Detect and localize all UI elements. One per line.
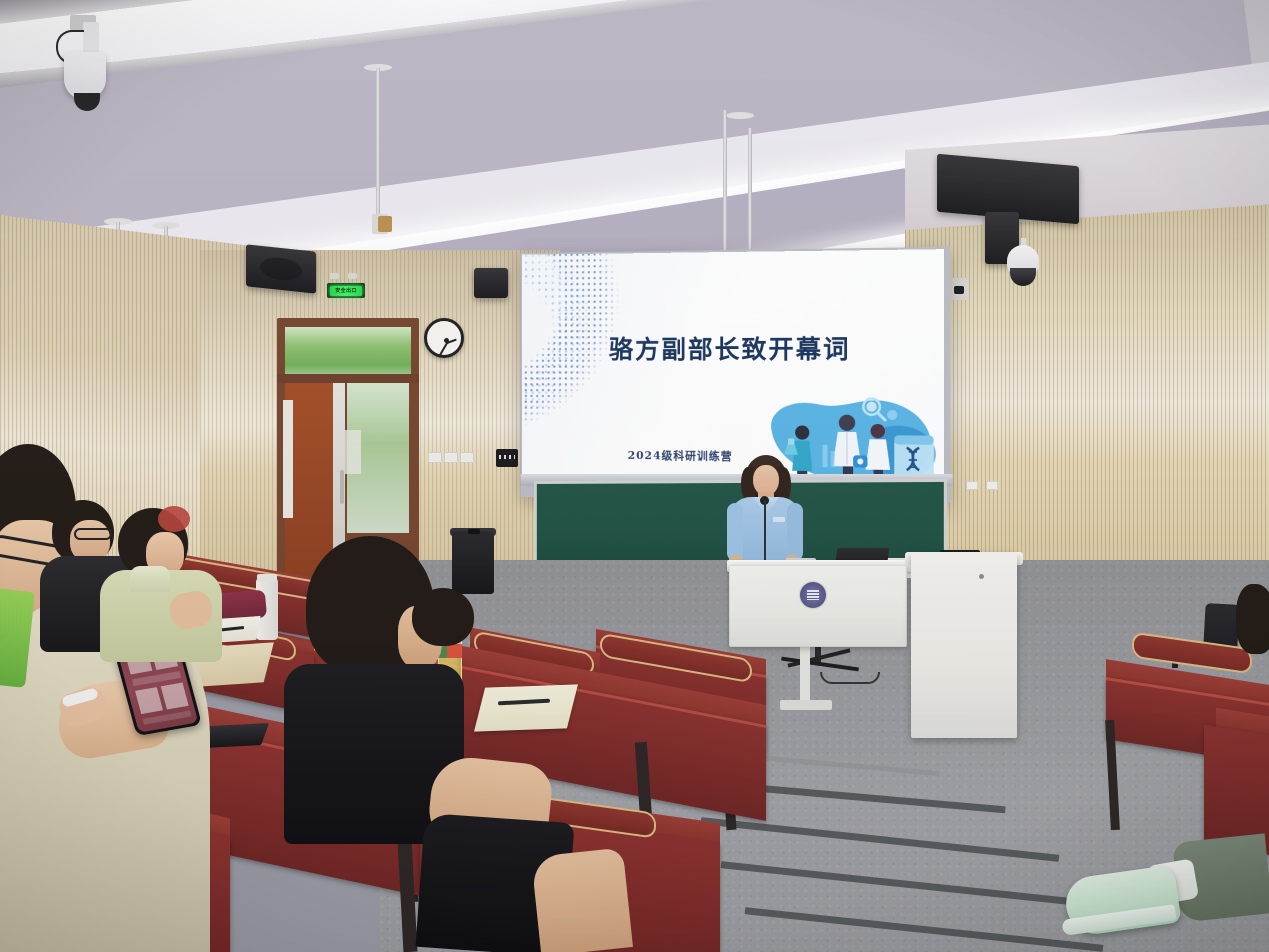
device-box-left — [378, 216, 392, 232]
wall-socket-right-2[interactable] — [986, 481, 998, 490]
wall-camera-right-lens — [954, 286, 964, 294]
wall-clock — [424, 318, 464, 358]
exit-sign: 安全出口 — [327, 283, 365, 298]
floor-cable — [820, 672, 880, 684]
rod-ceiling-plate-center — [726, 112, 754, 119]
photo-cell-4 — [161, 683, 189, 710]
wall-speaker-center — [474, 268, 508, 298]
student-right-edge-head — [1236, 584, 1269, 654]
university-seal-emblem — [800, 582, 826, 608]
white-water-bottle-cap — [257, 574, 277, 582]
speaker-cone-left — [260, 256, 302, 282]
slide-subtitle: 2024级科研训练营 — [628, 447, 733, 464]
floor-bin-slot — [468, 529, 480, 534]
presenter-shirt-logo — [773, 517, 785, 522]
exit-sign-text: 安全出口 — [330, 286, 362, 296]
rack-lock[interactable] — [979, 574, 984, 579]
photo-cell-3 — [135, 687, 163, 714]
lecture-hall-photo: 安全出口 2:35 骆方副部长致开幕词 2024级科研训练营 — [0, 0, 1269, 952]
light-switch-3[interactable] — [460, 452, 474, 463]
equipment-rack — [911, 552, 1017, 738]
wall-control-panel-leds — [499, 455, 515, 459]
presenter-arm-right — [787, 503, 803, 561]
podium-leg — [800, 645, 810, 703]
projection-slide: 骆方副部长致开幕词 2024级科研训练营 — [522, 249, 944, 481]
door-jamb-light — [283, 400, 293, 518]
door-mullion-horizontal — [277, 374, 419, 383]
hanging-rod-left — [376, 68, 380, 220]
presenter-arm-left — [727, 503, 743, 561]
presenter-face — [753, 465, 779, 496]
podium-foot — [780, 700, 832, 710]
photo-strip-footer — [143, 711, 192, 725]
slide-title: 骆方副部长致开幕词 — [522, 329, 944, 366]
emergency-lamp-left — [330, 273, 339, 279]
door-handle[interactable] — [340, 470, 344, 504]
floor-bin[interactable] — [452, 531, 494, 594]
emergency-lamp-right — [348, 273, 357, 279]
ceiling-speaker-left — [246, 244, 316, 293]
wall-socket-right-1[interactable] — [966, 481, 978, 490]
door-vent-panel — [345, 430, 361, 474]
cream-notebook[interactable] — [474, 684, 578, 731]
light-switch-2[interactable] — [444, 452, 458, 463]
light-switch-1[interactable] — [428, 452, 442, 463]
student-black-tee-glasses-icon — [74, 528, 112, 540]
hair-accessory-red — [158, 506, 190, 532]
door-transom-glass — [285, 327, 411, 381]
hanging-rod-center-a — [723, 110, 727, 260]
clock-center — [444, 338, 449, 343]
student-center-lower-leg — [531, 847, 633, 952]
student-right-small-head — [412, 588, 474, 646]
student-olive-collar — [130, 566, 170, 592]
